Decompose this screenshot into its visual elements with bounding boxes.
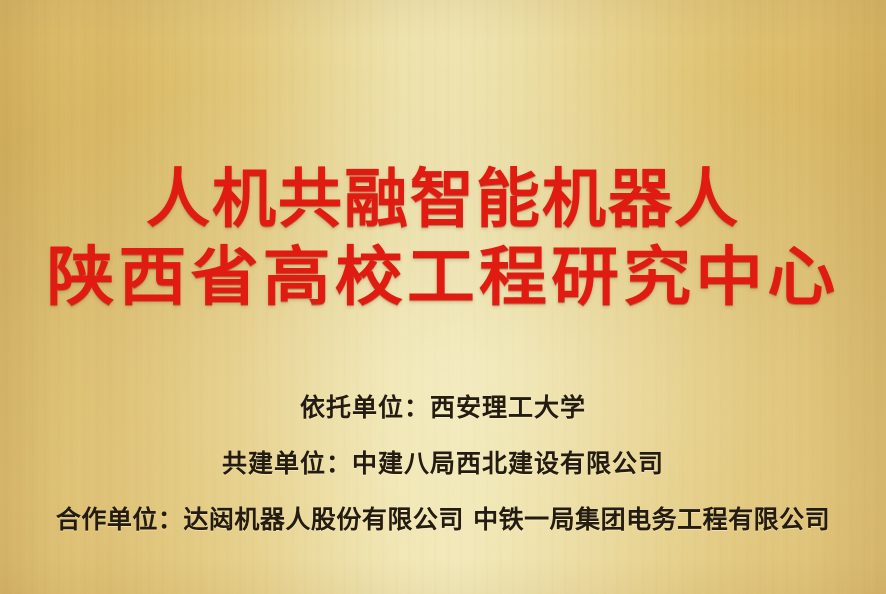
title-line-1: 人机共融智能机器人: [0, 168, 886, 232]
plaque-title: 人机共融智能机器人 陕西省高校工程研究中心: [0, 168, 886, 310]
affiliation-supporting-unit: 依托单位：西安理工大学: [0, 388, 886, 424]
title-line-2: 陕西省高校工程研究中心: [0, 246, 886, 310]
plaque-content: 人机共融智能机器人 陕西省高校工程研究中心 依托单位：西安理工大学 共建单位：中…: [0, 0, 886, 594]
award-plaque: 人机共融智能机器人 陕西省高校工程研究中心 依托单位：西安理工大学 共建单位：中…: [0, 0, 886, 594]
affiliation-co-construction-unit: 共建单位：中建八局西北建设有限公司: [0, 444, 886, 480]
affiliation-list: 依托单位：西安理工大学 共建单位：中建八局西北建设有限公司 合作单位：达闼机器人…: [0, 388, 886, 536]
affiliation-cooperating-units: 合作单位：达闼机器人股份有限公司 中铁一局集团电务工程有限公司: [0, 500, 886, 536]
